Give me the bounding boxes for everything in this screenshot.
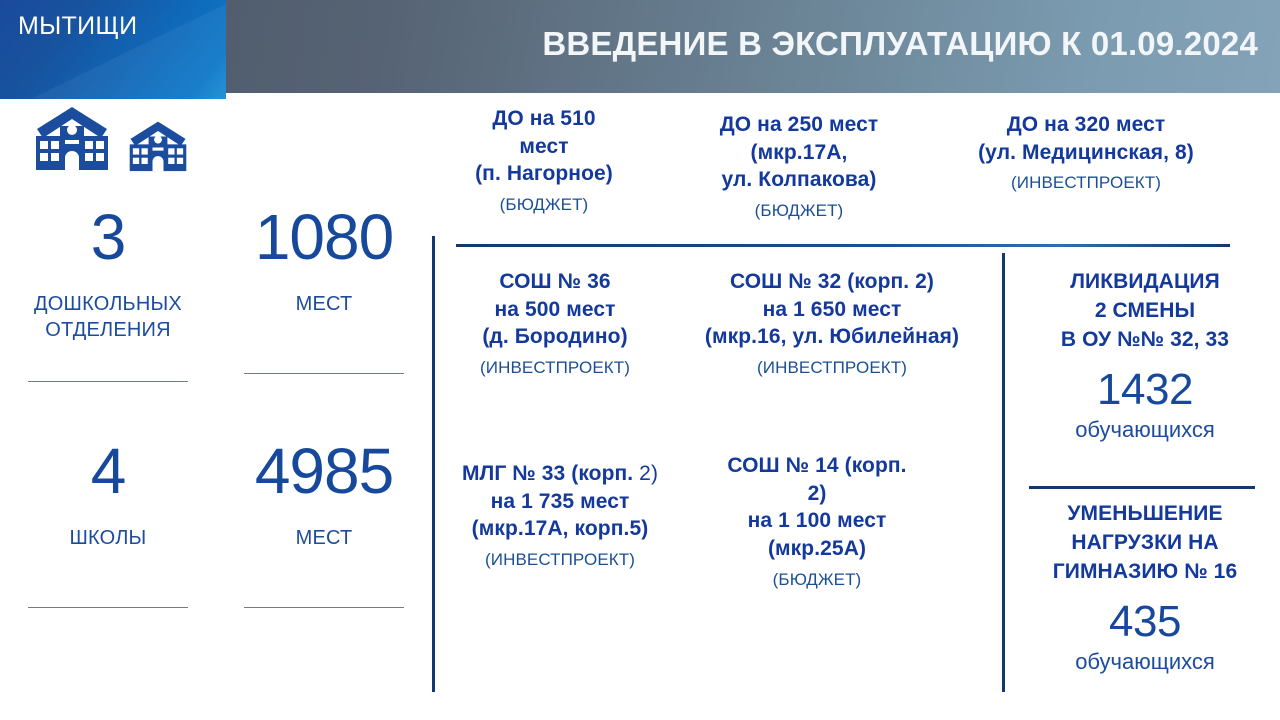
projects-area: ДО на 510 мест (п. Нагорное) (БЮДЖЕТ) ДО… xyxy=(436,100,1280,720)
project-title-line-2: (мкр.17А, xyxy=(686,139,912,167)
summary-stats-row-1: 3 ДОШКОЛЬНЫХ ОТДЕЛЕНИЯ 1080 МЕСТ xyxy=(0,204,432,382)
outcome-heading-line-2: НАГРУЗКИ НА xyxy=(1014,529,1276,558)
summary-stats-row-2: 4 ШКОЛЫ 4985 МЕСТ xyxy=(0,438,432,608)
stat-underline xyxy=(28,381,188,382)
stats-row-spacer xyxy=(0,382,432,438)
stat-preschool-places: 1080 МЕСТ xyxy=(216,204,432,382)
project-title-line-1: МЛГ № 33 (корп. 2) xyxy=(440,460,680,488)
stat-school-places: 4985 МЕСТ xyxy=(216,438,432,608)
outcome-caption: обучающихся xyxy=(1014,649,1276,675)
project-title-line-1: СОШ № 36 xyxy=(440,268,670,296)
project-title-line-2: (ул. Медицинская, 8) xyxy=(946,139,1226,167)
city-badge-label: МЫТИЩИ xyxy=(18,14,137,39)
project-funding: (ИНВЕСТПРОЕКТ) xyxy=(440,357,670,379)
project-title-line-2: на 1 735 мест xyxy=(440,488,680,516)
project-title-line-2: на 500 мест xyxy=(440,296,670,324)
project-title-line-4: (мкр.25А) xyxy=(704,535,930,563)
project-card-mlg-33: МЛГ № 33 (корп. 2) на 1 735 мест (мкр.17… xyxy=(440,460,680,571)
outcome-heading-line-1: ЛИКВИДАЦИЯ xyxy=(1014,268,1276,297)
stat-value: 3 xyxy=(18,204,198,271)
project-title: ДО на 250 мест (мкр.17А, ул. Колпакова) xyxy=(686,111,912,194)
stat-value: 1080 xyxy=(234,204,414,271)
outcome-heading-line-3: ГИМНАЗИЮ № 16 xyxy=(1014,558,1276,587)
stat-rule-wrap xyxy=(18,607,198,608)
page-title: ВВЕДЕНИЕ В ЭКСПЛУАТАЦИЮ К 01.09.2024 xyxy=(542,27,1258,60)
stat-value: 4 xyxy=(18,438,198,505)
project-funding: (БЮДЖЕТ) xyxy=(686,200,912,222)
stat-label-line-2: ОТДЕЛЕНИЯ xyxy=(18,317,198,343)
vertical-divider-main xyxy=(432,236,435,692)
project-title-line-3: ул. Колпакова) xyxy=(686,166,912,194)
project-title-line-3: (мкр.16, ул. Юбилейная) xyxy=(682,323,982,351)
project-title-line-2: 2) xyxy=(704,480,930,508)
project-title-line-1: ДО на 320 мест xyxy=(946,111,1226,139)
project-card-sosh-36: СОШ № 36 на 500 мест (д. Бородино) (ИНВЕ… xyxy=(440,268,670,379)
project-title-prefix: МЛГ № 33 (корп. xyxy=(462,462,633,485)
outcome-card-shifts: ЛИКВИДАЦИЯ 2 СМЕНЫ В ОУ №№ 32, 33 1432 о… xyxy=(1014,268,1276,443)
outcome-heading-line-1: УМЕНЬШЕНИЕ xyxy=(1014,500,1276,529)
stat-rule-wrap xyxy=(234,607,414,608)
outcome-heading-line-2: 2 СМЕНЫ xyxy=(1014,297,1276,326)
stat-label: ШКОЛЫ xyxy=(18,525,198,551)
stat-label: МЕСТ xyxy=(234,525,414,551)
page-header: МЫТИЩИ ВВЕДЕНИЕ В ЭКСПЛУАТАЦИЮ К 01.09.2… xyxy=(0,0,1280,100)
outcome-card-gymnasium: УМЕНЬШЕНИЕ НАГРУЗКИ НА ГИМНАЗИЮ № 16 435… xyxy=(1014,500,1276,675)
project-title: СОШ № 14 (корп. 2) на 1 100 мест (мкр.25… xyxy=(704,452,930,563)
stat-label: МЕСТ xyxy=(234,291,414,317)
project-card-do-320: ДО на 320 мест (ул. Медицинская, 8) (ИНВ… xyxy=(946,111,1226,195)
project-title-line-1: СОШ № 14 (корп. xyxy=(704,452,930,480)
project-title: СОШ № 36 на 500 мест (д. Бородино) xyxy=(440,268,670,351)
project-title-line-3: (мкр.17А, корп.5) xyxy=(440,515,680,543)
project-title: ДО на 510 мест (п. Нагорное) xyxy=(440,105,648,188)
project-funding: (ИНВЕСТПРОЕКТ) xyxy=(440,549,680,571)
project-title-line-2: мест xyxy=(440,133,648,161)
stat-school-count: 4 ШКОЛЫ xyxy=(0,438,216,608)
outcome-heading: ЛИКВИДАЦИЯ 2 СМЕНЫ В ОУ №№ 32, 33 xyxy=(1014,268,1276,354)
stat-underline xyxy=(244,607,404,608)
school-building-small-icon xyxy=(127,120,189,180)
city-badge: МЫТИЩИ xyxy=(0,0,226,99)
stat-underline xyxy=(244,373,404,374)
school-icons-group xyxy=(33,105,189,180)
project-funding: (ИНВЕСТПРОЕКТ) xyxy=(682,357,982,379)
outcome-caption: обучающихся xyxy=(1014,417,1276,443)
stat-rule-wrap xyxy=(18,381,198,382)
project-title-line-3: (п. Нагорное) xyxy=(440,160,648,188)
project-title: МЛГ № 33 (корп. 2) на 1 735 мест (мкр.17… xyxy=(440,460,680,543)
stat-preschool-count: 3 ДОШКОЛЬНЫХ ОТДЕЛЕНИЯ xyxy=(0,204,216,382)
school-building-icon xyxy=(33,105,111,180)
project-title-line-1: СОШ № 32 (корп. 2) xyxy=(682,268,982,296)
project-card-sosh-32: СОШ № 32 (корп. 2) на 1 650 мест (мкр.16… xyxy=(682,268,982,379)
project-title: СОШ № 32 (корп. 2) на 1 650 мест (мкр.16… xyxy=(682,268,982,351)
stat-label: ДОШКОЛЬНЫХ ОТДЕЛЕНИЯ xyxy=(18,291,198,343)
project-funding: (ИНВЕСТПРОЕКТ) xyxy=(946,172,1226,194)
project-title-line-1: ДО на 250 мест xyxy=(686,111,912,139)
outcome-heading-line-3: В ОУ №№ 32, 33 xyxy=(1014,326,1276,355)
project-title-suffix: 2) xyxy=(633,462,658,485)
project-card-do-510: ДО на 510 мест (п. Нагорное) (БЮДЖЕТ) xyxy=(440,105,648,216)
project-title-line-1: ДО на 510 xyxy=(440,105,648,133)
outcome-number: 1432 xyxy=(1014,366,1276,414)
stat-label-line-1: ДОШКОЛЬНЫХ xyxy=(18,291,198,317)
summary-panel: 3 ДОШКОЛЬНЫХ ОТДЕЛЕНИЯ 1080 МЕСТ 4 xyxy=(0,100,432,720)
summary-stats: 3 ДОШКОЛЬНЫХ ОТДЕЛЕНИЯ 1080 МЕСТ 4 xyxy=(0,204,432,608)
outcome-heading: УМЕНЬШЕНИЕ НАГРУЗКИ НА ГИМНАЗИЮ № 16 xyxy=(1014,500,1276,586)
project-title-line-2: на 1 650 мест xyxy=(682,296,982,324)
project-card-sosh-14: СОШ № 14 (корп. 2) на 1 100 мест (мкр.25… xyxy=(704,452,930,591)
outcome-number: 435 xyxy=(1014,598,1276,646)
project-title: ДО на 320 мест (ул. Медицинская, 8) xyxy=(946,111,1226,166)
project-card-do-250: ДО на 250 мест (мкр.17А, ул. Колпакова) … xyxy=(686,111,912,222)
project-funding: (БЮДЖЕТ) xyxy=(704,569,930,591)
project-title-line-3: (д. Бородино) xyxy=(440,323,670,351)
stat-underline xyxy=(28,607,188,608)
project-funding: (БЮДЖЕТ) xyxy=(440,194,648,216)
project-title-line-3: на 1 100 мест xyxy=(704,507,930,535)
stat-value: 4985 xyxy=(234,438,414,505)
stat-rule-wrap xyxy=(234,373,414,374)
